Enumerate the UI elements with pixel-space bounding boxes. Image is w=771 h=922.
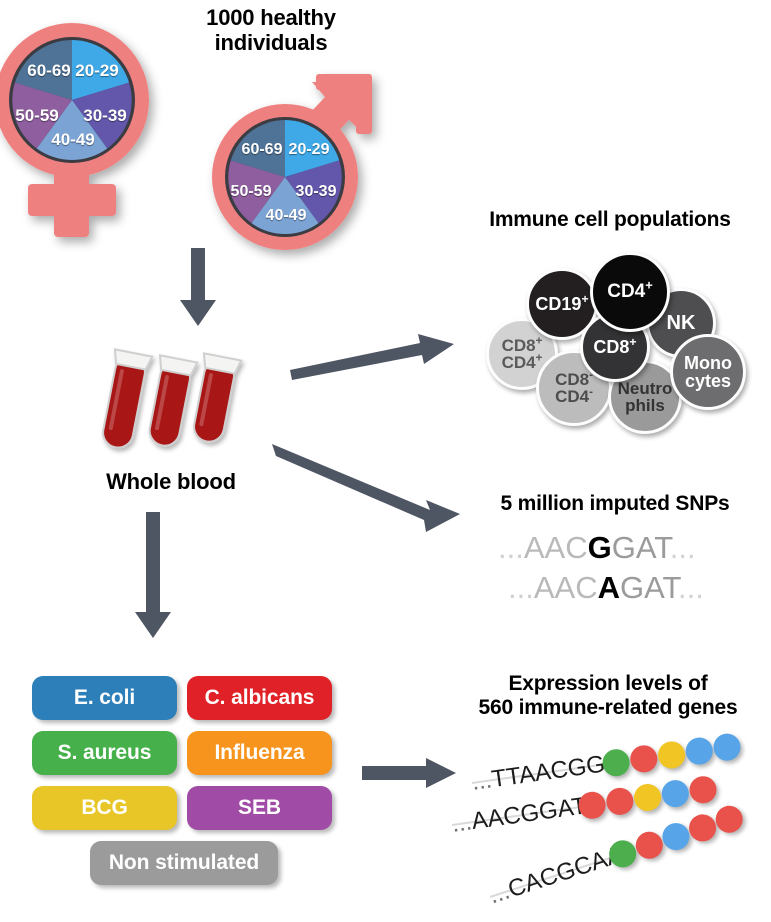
immune-cell-heading: Immune cell populations bbox=[460, 208, 760, 232]
pill-non-stimulated[interactable]: Non stimulated bbox=[90, 841, 278, 885]
snp-row: ...AACGGAT... bbox=[498, 530, 748, 570]
pill-label: SEB bbox=[238, 796, 281, 820]
female-symbol: 20-29 30-39 40-49 50-59 60-69 bbox=[6, 12, 186, 242]
snp-row: ...AACAGAT... bbox=[498, 570, 748, 610]
pill-seb[interactable]: SEB bbox=[187, 786, 332, 830]
cell-monocytes[interactable]: Monocytes bbox=[670, 334, 746, 410]
female-age-pie bbox=[12, 40, 131, 160]
male-symbol: 20-29 30-39 40-49 50-59 60-69 bbox=[198, 60, 428, 260]
pill-label: Non stimulated bbox=[109, 851, 259, 875]
snp-variant: A bbox=[598, 570, 620, 605]
snp-post: GAT bbox=[612, 530, 670, 565]
arrow-blood-to-immune-cells bbox=[288, 330, 456, 382]
cell-label: CD8+ bbox=[592, 338, 637, 356]
bead bbox=[656, 740, 686, 770]
snp-pre: AAC bbox=[524, 530, 588, 565]
pill-label: BCG bbox=[81, 796, 127, 820]
bead bbox=[686, 811, 720, 845]
bead bbox=[660, 778, 690, 808]
bead bbox=[605, 786, 635, 816]
cell-label: CD4+ bbox=[606, 282, 654, 301]
expression-heading-line2: 560 immune-related genes bbox=[458, 696, 758, 720]
figure-canvas: 1000 healthy individuals bbox=[0, 0, 771, 922]
snp-variant: G bbox=[588, 530, 612, 565]
cell-label: CD8-CD4- bbox=[554, 371, 594, 406]
snp-lead: ... bbox=[508, 570, 534, 605]
pill-c-albicans[interactable]: C. albicans bbox=[187, 676, 332, 720]
snp-tail: ... bbox=[678, 570, 704, 605]
expression-strands: ...TTAACGG ...AACGGAT bbox=[452, 730, 771, 910]
bead bbox=[712, 732, 742, 762]
pill-s-aureus[interactable]: S. aureus bbox=[32, 731, 177, 775]
strand-sequence: ...CACGCAA bbox=[486, 841, 627, 910]
expression-heading: Expression levels of 560 immune-related … bbox=[458, 672, 758, 719]
snp-pre: AAC bbox=[534, 570, 598, 605]
cell-label: Neutrophils bbox=[617, 380, 674, 415]
cohort-heading: 1000 healthy individuals bbox=[176, 6, 366, 55]
cell-label: Monocytes bbox=[683, 354, 733, 391]
bead bbox=[659, 820, 693, 854]
blood-tube bbox=[143, 355, 197, 449]
blood-tubes bbox=[96, 338, 256, 458]
pill-bcg[interactable]: BCG bbox=[32, 786, 177, 830]
whole-blood-label: Whole blood bbox=[76, 470, 266, 495]
pill-label: Influenza bbox=[214, 741, 304, 765]
arrow-stimuli-to-expression bbox=[362, 756, 458, 790]
bead bbox=[684, 736, 714, 766]
male-age-pie bbox=[228, 120, 341, 234]
snp-lead: ... bbox=[498, 530, 524, 565]
snps-heading: 5 million imputed SNPs bbox=[470, 492, 760, 516]
bead bbox=[601, 748, 631, 778]
pill-label: S. aureus bbox=[58, 741, 152, 765]
blood-tube bbox=[97, 349, 153, 450]
pill-label: C. albicans bbox=[205, 686, 315, 710]
snp-post: GAT bbox=[620, 570, 678, 605]
pill-label: E. coli bbox=[74, 686, 135, 710]
bead bbox=[712, 802, 746, 836]
snp-tail: ... bbox=[670, 530, 696, 565]
cell-cd4pos[interactable]: CD4+ bbox=[590, 252, 670, 332]
stimuli-panel: E. coli C. albicans S. aureus Influenza … bbox=[32, 676, 337, 891]
expression-heading-line1: Expression levels of bbox=[458, 672, 758, 696]
bead bbox=[577, 790, 607, 820]
bead bbox=[629, 744, 659, 774]
cell-label: CD19+ bbox=[534, 295, 589, 313]
bead bbox=[632, 782, 662, 812]
arrow-blood-to-stimuli bbox=[133, 512, 173, 640]
cell-label: NK bbox=[666, 313, 697, 333]
arrow-blood-to-snps bbox=[270, 438, 462, 538]
pill-influenza[interactable]: Influenza bbox=[187, 731, 332, 775]
bead bbox=[632, 828, 666, 862]
pill-e-coli[interactable]: E. coli bbox=[32, 676, 177, 720]
cohort-heading-line1: 1000 healthy bbox=[176, 6, 366, 31]
strand-sequence: ...AACGGAT bbox=[450, 792, 588, 839]
cell-label: CD8+CD4+ bbox=[501, 337, 544, 372]
cohort-heading-line2: individuals bbox=[176, 31, 366, 56]
bead bbox=[688, 774, 718, 804]
immune-cell-cluster: CD8+CD4+ CD19+ CD4+ NK CD8+ CD8-CD4- Neu… bbox=[468, 240, 768, 445]
arrow-cohort-to-blood bbox=[178, 248, 218, 328]
snp-sequences: ...AACGGAT... ...AACAGAT... bbox=[498, 530, 748, 610]
